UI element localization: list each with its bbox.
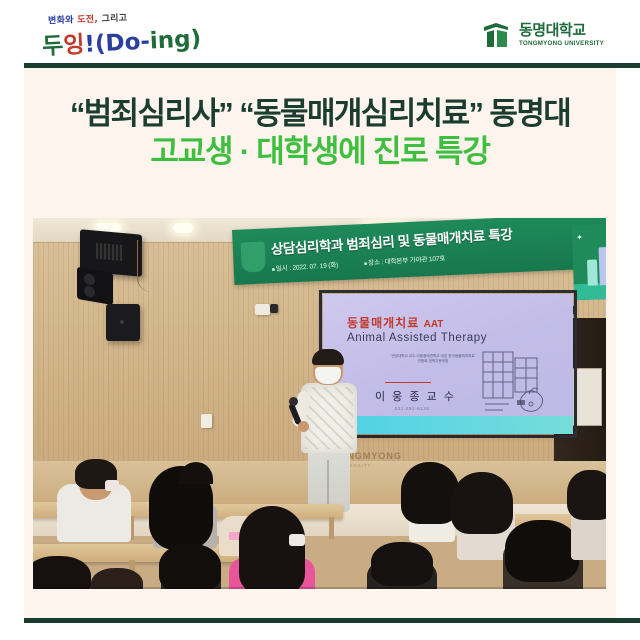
ceiling-light	[173, 223, 193, 233]
brand-wordmark-part3: !(Do-	[84, 29, 151, 58]
slide-title-ko-text: 동물매개치료	[347, 316, 419, 330]
audience-hair	[567, 470, 606, 520]
audience-area	[33, 458, 606, 589]
card-header: 변화와 도전, 그리고 두잉!(Do-ing) 동명대학교 TONGMYONG …	[0, 0, 640, 68]
brand-wordmark: 두잉!(Do-ing)	[41, 19, 202, 61]
banner-emblem-icon	[241, 242, 266, 273]
brand-wordmark-part2: 잉	[63, 32, 86, 59]
slide-professor-name: 이 웅 종 교 수	[375, 388, 449, 404]
audience-mask	[105, 480, 119, 491]
board-building	[599, 247, 606, 285]
brand-wordmark-part4: ing)	[149, 26, 202, 55]
slide-title-ko: 동물매개치료 AAT	[347, 314, 443, 331]
slide-credit-lines: 연암대학교 교수 이웅종애견학교 대표 한국동물매개치료연합회 정책자문위원	[391, 354, 475, 365]
audience-mask	[289, 534, 305, 546]
headline-block: “범죄심리사” “동물매개심리치료” 동명대 고교생 · 대학생에 진로 특강	[24, 96, 616, 171]
wall-speaker-icon	[77, 267, 113, 305]
slide-telephone: 031-291-6136	[375, 406, 449, 411]
desk-leg	[329, 517, 334, 539]
audience-hair	[159, 544, 221, 589]
wall-sensor-icon	[255, 304, 270, 315]
slide-illustration	[481, 348, 555, 418]
tongmyong-leaf-mark-icon	[481, 20, 511, 50]
lecture-photo: 상담심리학과 범죄심리 및 동물매개치료 특강 일시 : 2022. 07. 1…	[33, 218, 606, 589]
audience-hair	[91, 568, 143, 589]
slide-title-abbr: AAT	[424, 319, 444, 330]
wall-speaker-box-icon	[106, 304, 140, 341]
social-card: 변화와 도전, 그리고 두잉!(Do-ing) 동명대학교 TONGMYONG …	[0, 0, 640, 640]
brand-wordmark-part1: 두	[42, 33, 65, 60]
audience-head	[179, 462, 213, 484]
audience-hair	[371, 542, 433, 586]
photo-bottom-edge	[33, 587, 606, 589]
audience-hair	[239, 506, 305, 589]
wall-switch-icon	[201, 414, 212, 428]
microphone-head-icon	[289, 397, 298, 406]
university-name-block: 동명대학교 TONGMYONG UNIVERSITY	[519, 23, 604, 47]
university-name-ko: 동명대학교	[519, 23, 604, 38]
banner-place: 장소 : 대학본부 가야관 107호	[364, 252, 446, 267]
university-name-en: TONGMYONG UNIVERSITY	[519, 41, 604, 47]
headline-line-1: “범죄심리사” “동물매개심리치료” 동명대	[24, 96, 616, 131]
audience-hair	[505, 520, 579, 582]
presenter-hand	[298, 421, 309, 432]
presenter-hair	[312, 349, 344, 365]
audience-hair	[33, 556, 91, 589]
camera-icon	[270, 304, 278, 313]
board-star-icon: ✦	[576, 233, 583, 242]
headline-line-2: 고교생 · 대학생에 진로 특강	[24, 133, 616, 171]
side-display-board: ✦ ✦	[572, 223, 606, 300]
doing-brand-logo: 변화와 도전, 그리고 두잉!(Do-ing)	[42, 12, 152, 58]
banner-date: 일시 : 2022. 07. 19 (화)	[271, 259, 338, 273]
audience-hair	[451, 472, 513, 534]
bottom-divider-rule	[24, 618, 640, 623]
slide-title-en: Animal Assisted Therapy	[347, 332, 487, 344]
speaker-cable	[137, 240, 156, 292]
board-building	[587, 259, 598, 285]
slide-divider	[385, 382, 431, 383]
university-logo: 동명대학교 TONGMYONG UNIVERSITY	[481, 18, 604, 52]
